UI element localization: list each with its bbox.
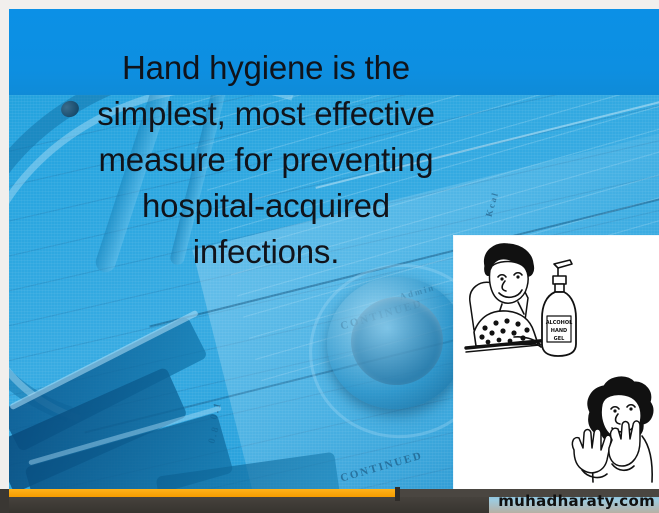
headline-line-4: hospital-acquired xyxy=(31,183,501,229)
headline-line-5: infections. xyxy=(31,229,501,275)
bottle-label-line1: ALCOHOL xyxy=(546,320,573,326)
bottle-label-line3: GEL xyxy=(554,336,566,342)
slide-matte-left xyxy=(0,0,9,513)
progress-bar-handle[interactable] xyxy=(395,487,400,501)
slide-headline: Hand hygiene is the simplest, most effec… xyxy=(31,45,501,275)
slide-screenshot: CONTINUED CONTINUED Admin 0.8 0.1 Kcal H… xyxy=(0,0,659,513)
cartoon-illustration-panel: ALCOHOL HAND GEL xyxy=(454,236,659,489)
headline-line-3: measure for preventing xyxy=(31,137,501,183)
site-watermark: muhadharaty.com xyxy=(498,491,655,511)
slide-canvas: CONTINUED CONTINUED Admin 0.8 0.1 Kcal H… xyxy=(9,9,659,489)
headline-line-1: Hand hygiene is the xyxy=(31,45,501,91)
progress-bar-fill xyxy=(9,489,398,497)
hand-hygiene-cartoon-svg: ALCOHOL HAND GEL xyxy=(454,236,659,489)
headline-line-2: simplest, most effective xyxy=(31,91,501,137)
bottle-label-line2: HAND xyxy=(551,328,567,334)
slide-matte-top xyxy=(0,0,659,9)
player-bottom-bar: muhadharaty.com xyxy=(0,489,659,513)
